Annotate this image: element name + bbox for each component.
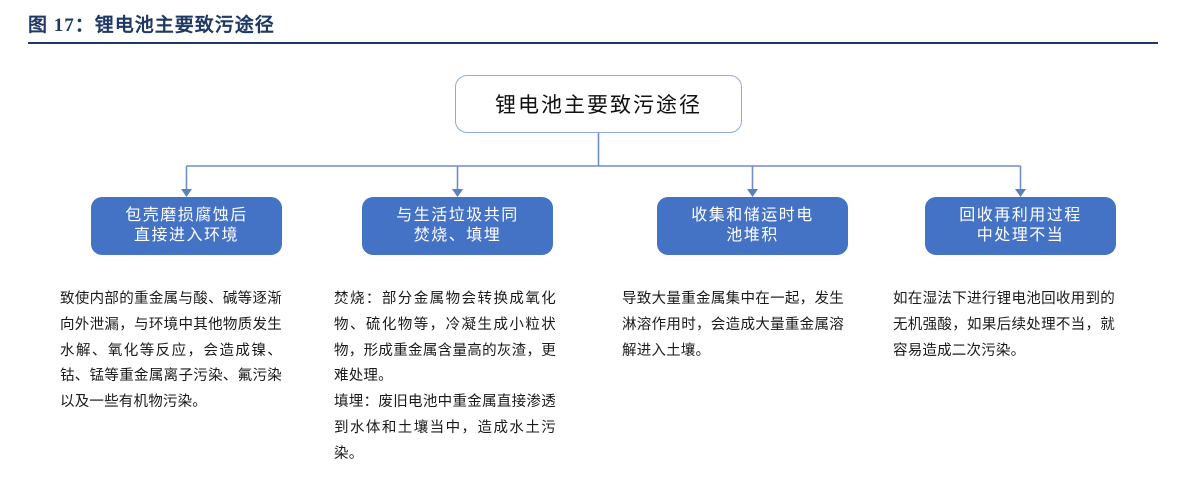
branch-box-4[interactable]: 回收再利用过程 中处理不当 — [925, 197, 1116, 255]
branch-box-3[interactable]: 收集和储运时电 池堆积 — [657, 197, 848, 255]
description-column-4: 如在湿法下进行锂电池回收用到的无机强酸，如果后续处理不当，就容易造成二次污染。 — [893, 287, 1115, 364]
description-column-3: 导致大量重金属集中在一起，发生淋溶作用时，会造成大量重金属溶解进入土壤。 — [622, 287, 844, 364]
description-text-3: 导致大量重金属集中在一起，发生淋溶作用时，会造成大量重金属溶解进入土壤。 — [622, 287, 844, 364]
pollution-pathway-diagram: 锂电池主要致污途径 包壳磨损腐蚀后 直接进入环境 与生活垃圾共同 焚烧、填埋 收… — [0, 50, 1185, 504]
title-underline-rule — [28, 42, 1158, 44]
figure-title: 图 17：锂电池主要致污途径 — [28, 10, 275, 37]
branch-box-4-line1: 回收再利用过程 — [959, 206, 1082, 226]
description-text-4: 如在湿法下进行锂电池回收用到的无机强酸，如果后续处理不当，就容易造成二次污染。 — [893, 287, 1115, 364]
branch-box-3-line1: 收集和储运时电 — [691, 206, 814, 226]
description-column-2: 焚烧：部分金属物会转换成氧化物、硫化物等，冷凝生成小粒状物，形成重金属含量高的灰… — [334, 287, 556, 468]
root-node[interactable]: 锂电池主要致污途径 — [455, 75, 742, 133]
branch-box-4-line2: 中处理不当 — [977, 226, 1065, 246]
description-column-1: 致使内部的重金属与酸、碱等逐渐向外泄漏，与环境中其他物质发生水解、氧化等反应，会… — [60, 287, 282, 416]
branch-box-2[interactable]: 与生活垃圾共同 焚烧、填埋 — [362, 197, 553, 255]
branch-box-2-line1: 与生活垃圾共同 — [396, 206, 519, 226]
branch-box-1-line1: 包壳磨损腐蚀后 — [125, 206, 248, 226]
branch-box-3-line2: 池堆积 — [726, 226, 779, 246]
description-text-1: 致使内部的重金属与酸、碱等逐渐向外泄漏，与环境中其他物质发生水解、氧化等反应，会… — [60, 287, 282, 416]
branch-box-1[interactable]: 包壳磨损腐蚀后 直接进入环境 — [91, 197, 282, 255]
root-node-label: 锂电池主要致污途径 — [495, 89, 702, 119]
branch-box-2-line2: 焚烧、填埋 — [414, 226, 502, 246]
description-text-2a: 焚烧：部分金属物会转换成氧化物、硫化物等，冷凝生成小粒状物，形成重金属含量高的灰… — [334, 287, 556, 390]
description-text-2b: 填埋：废旧电池中重金属直接渗透到水体和土壤当中，造成水土污染。 — [334, 390, 556, 467]
branch-box-1-line2: 直接进入环境 — [134, 226, 239, 246]
